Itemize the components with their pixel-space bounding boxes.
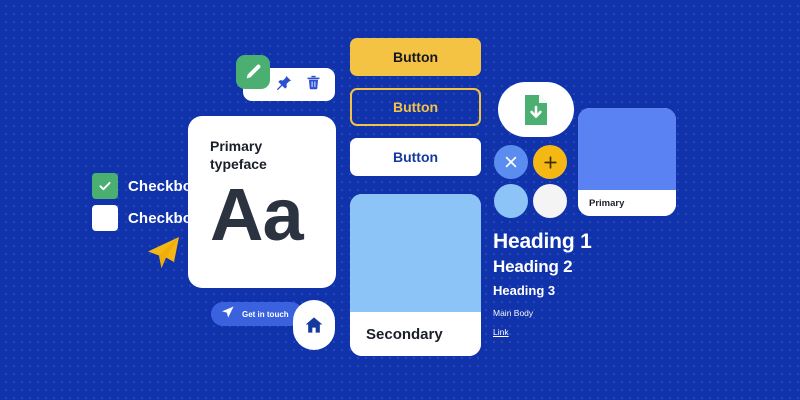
typeface-card-title: Primary typeface — [210, 138, 320, 173]
send-plane-icon — [220, 305, 235, 324]
style-guide-canvas: Checkbox Checkbox Primary typeface Aa — [0, 0, 800, 400]
primary-typeface-card: Primary typeface Aa — [188, 116, 336, 288]
plus-icon — [542, 154, 559, 171]
body-text-sample: Main Body — [493, 307, 693, 320]
link-sample[interactable]: Link — [493, 326, 509, 339]
heading-2-sample: Heading 2 — [493, 256, 693, 279]
typeface-sample-glyphs: Aa — [210, 178, 303, 252]
swatch-fill-secondary — [350, 194, 481, 312]
button-filled[interactable]: Button — [350, 38, 481, 76]
close-icon — [503, 154, 519, 170]
edit-button[interactable] — [236, 55, 270, 89]
checkbox-checked[interactable] — [92, 173, 118, 199]
checkbox-row-checked[interactable]: Checkbox — [92, 173, 201, 199]
color-swatch-secondary: Secondary — [350, 194, 481, 356]
home-icon — [304, 315, 324, 335]
swatch-label-primary: Primary — [578, 190, 676, 216]
pin-icon[interactable] — [276, 74, 293, 96]
checkbox-row-unchecked[interactable]: Checkbox — [92, 205, 201, 231]
typography-scale: Heading 1 Heading 2 Heading 3 Main Body … — [493, 228, 693, 340]
file-download-icon — [521, 93, 551, 127]
swatch-fill-primary — [578, 108, 676, 190]
add-button[interactable] — [533, 145, 567, 179]
typeface-title-line-1: Primary — [210, 138, 320, 156]
color-dot-light-blue[interactable] — [494, 184, 528, 218]
swatch-label-secondary: Secondary — [350, 312, 481, 356]
heading-3-sample: Heading 3 — [493, 282, 693, 300]
send-plane-icon — [143, 234, 183, 277]
home-button[interactable] — [293, 300, 335, 350]
pencil-icon — [244, 63, 262, 81]
color-swatch-primary: Primary — [578, 108, 676, 216]
check-icon — [97, 178, 113, 194]
typeface-title-line-2: typeface — [210, 156, 320, 174]
button-outline[interactable]: Button — [350, 88, 481, 126]
get-in-touch-button[interactable]: Get in touch — [211, 302, 303, 326]
heading-1-sample: Heading 1 — [493, 228, 693, 255]
get-in-touch-label: Get in touch — [242, 310, 289, 319]
color-dot-white[interactable] — [533, 184, 567, 218]
close-button[interactable] — [494, 145, 528, 179]
download-button[interactable] — [498, 82, 574, 137]
button-white[interactable]: Button — [350, 138, 481, 176]
trash-icon[interactable] — [305, 74, 322, 96]
checkbox-unchecked[interactable] — [92, 205, 118, 231]
